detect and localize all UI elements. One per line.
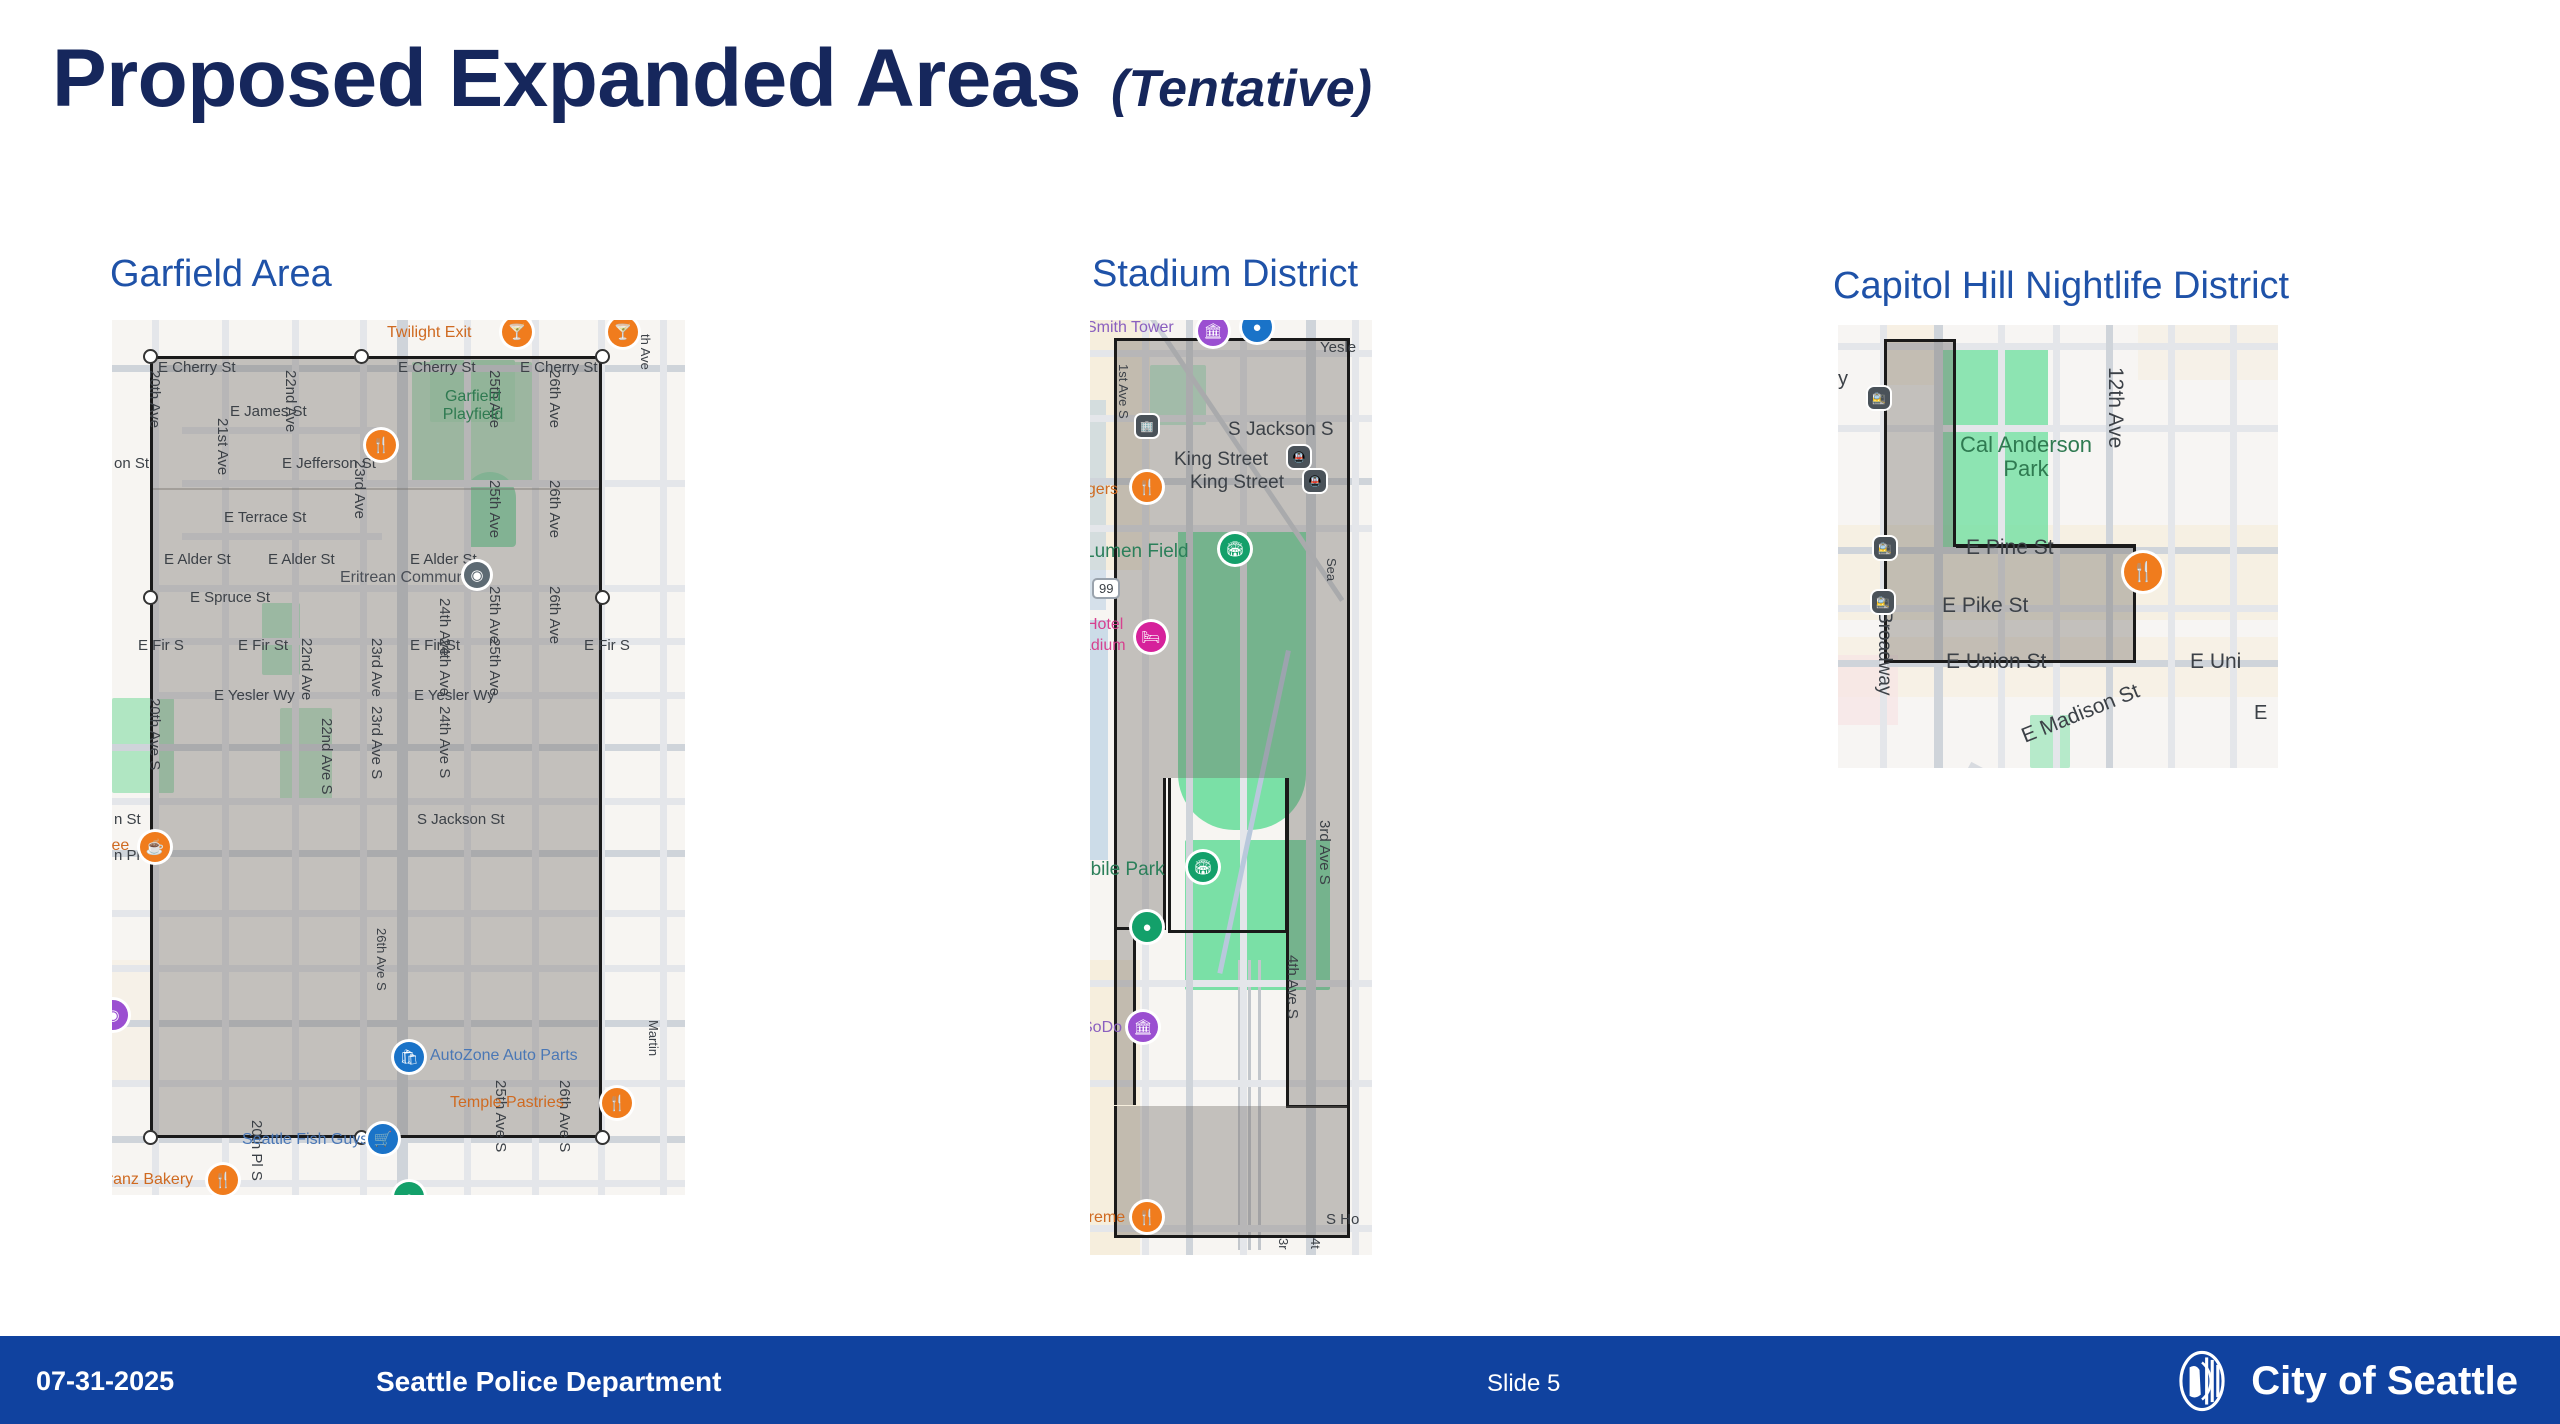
restaurant-icon[interactable]: 🍴 (602, 1088, 632, 1118)
street-label: E Terrace St (224, 510, 306, 525)
street-label: Yesle (1320, 340, 1356, 355)
title-main-text: Proposed Expanded Areas (52, 38, 1081, 120)
poi-label-kreme[interactable]: Kreme (1090, 1210, 1125, 1226)
park-label-cal-anderson: Cal Anderson Park (1946, 433, 2106, 481)
street-label: 20th Ave (147, 370, 162, 428)
stadium-cutout-outline (1168, 778, 1288, 933)
poi-label-smith-tower[interactable]: Smith Tower (1090, 320, 1174, 336)
landmark-icon[interactable]: 🏛 (1128, 1012, 1158, 1042)
store-icon[interactable]: 🛒 (368, 1124, 398, 1154)
street-label: E Alder St (410, 552, 477, 567)
street-label: 23rd Ave (352, 460, 367, 519)
street-label: 24th Ave S (437, 706, 452, 778)
street-label: 26th Ave S (375, 928, 388, 991)
polygon-vertex[interactable] (143, 349, 158, 364)
selection-polygon-stadium-left-strip (1114, 778, 1166, 930)
transit-icon[interactable]: 🚉 (1868, 387, 1890, 409)
city-of-seattle-brand: City of Seattle (2171, 1350, 2518, 1412)
footer-department: Seattle Police Department (376, 1368, 721, 1396)
poi-label-hotel[interactable]: Hotel (1090, 617, 1123, 633)
poi-label-temple-pastries[interactable]: Temple Pastries (450, 1095, 564, 1111)
street-label: 1st Ave S (1117, 364, 1130, 419)
street-label: E Uni (2190, 651, 2241, 672)
place-icon[interactable]: ◉ (464, 562, 490, 588)
slide-footer: 07-31-2025 Seattle Police Department Sli… (0, 1336, 2560, 1424)
street-label: 12th Ave (2105, 367, 2126, 448)
street-label: E Cherry St (158, 360, 236, 375)
park-label-garfield-playfield: Garfield Playfield (430, 388, 516, 425)
street-label: Sea (1325, 558, 1338, 581)
poi-label-autozone[interactable]: AutoZone Auto Parts (430, 1048, 578, 1064)
section-heading-stadium: Stadium District (1092, 255, 1358, 293)
map-stadium-district[interactable]: Smith Tower 🏛 ● Yesle 1st Ave S 2nd Ave … (1090, 320, 1372, 1255)
restaurant-icon[interactable]: 🍴 (1132, 472, 1162, 502)
street-label: E Alder St (268, 552, 335, 567)
poi-label-franz-bakery[interactable]: Franz Bakery (112, 1172, 193, 1188)
street-label: 4t (1309, 1238, 1322, 1249)
street-label: E Fir St (238, 638, 288, 653)
poi-label-ggers[interactable]: ggers (1090, 482, 1118, 498)
street-label: n St (114, 812, 141, 827)
street-label: E Spruce St (190, 590, 270, 605)
restaurant-icon[interactable]: 🍴 (1132, 1202, 1162, 1232)
street-label: 3rd Ave S (1317, 820, 1332, 885)
polygon-vertex[interactable] (595, 1130, 610, 1145)
street-label: 22nd Ave S (319, 718, 334, 794)
street-label: E Yesler Wy (414, 688, 495, 703)
street-label: S Jackson St (417, 812, 505, 827)
footer-date: 07-31-2025 (36, 1368, 174, 1395)
street-label: Broadway (1875, 611, 1894, 696)
polygon-vertex[interactable] (143, 1130, 158, 1145)
stadium-icon[interactable]: 🏟 (1188, 852, 1218, 882)
section-heading-garfield: Garfield Area (110, 255, 332, 293)
poi-label-tmobile-park[interactable]: obile Park (1090, 860, 1165, 879)
street-label: 22nd Ave (299, 638, 314, 700)
transit-icon[interactable]: 🚉 (1874, 537, 1896, 559)
poi-label-sodo[interactable]: SoDo (1090, 1020, 1122, 1036)
polygon-vertex[interactable] (354, 349, 369, 364)
poi-label-twilight-exit[interactable]: Twilight Exit (387, 325, 471, 341)
poi-label-king-street-1[interactable]: King Street (1174, 450, 1268, 469)
poi-label-lumen-field[interactable]: Lumen Field (1090, 542, 1189, 561)
street-label: 25th Ave (487, 480, 502, 538)
polygon-vertex[interactable] (595, 590, 610, 605)
slide-canvas: Proposed Expanded Areas (Tentative) Garf… (0, 0, 2560, 1424)
street-label: E Fir S (584, 638, 630, 653)
street-label: 26th Ave (547, 370, 562, 428)
street-label: 3r (1277, 1238, 1290, 1250)
street-label: E Alder St (164, 552, 231, 567)
polygon-vertex[interactable] (143, 590, 158, 605)
train-icon[interactable]: 🚇 (1288, 446, 1310, 468)
restaurant-icon[interactable]: 🍴 (366, 430, 396, 460)
street-label: 21st Ave (215, 418, 230, 475)
poi-label-king-street-2[interactable]: King Street (1190, 473, 1284, 492)
street-label: E Fir S (138, 638, 184, 653)
city-seal-icon (2171, 1350, 2233, 1412)
street-label: on St (114, 456, 149, 471)
street-label: E Union St (1946, 651, 2046, 672)
restaurant-icon[interactable]: 🍴 (2124, 553, 2162, 591)
landmark-icon[interactable]: 🏢 (1136, 415, 1158, 437)
train-icon[interactable]: 🚇 (1304, 470, 1326, 492)
street-label: 25th Ave (487, 586, 502, 644)
poi-label-eritrean-community[interactable]: Eritrean Community (340, 570, 481, 586)
footer-slide-number: Slide 5 (1487, 1372, 1560, 1396)
street-label: S Ho (1326, 1212, 1359, 1227)
street-label: 20th Ave S (147, 698, 162, 770)
poi-label-coffee[interactable]: offee (112, 838, 129, 854)
street-label: E Pine St (1966, 537, 2054, 558)
map-capitol-hill[interactable]: Cal Anderson Park 12th Ave E Pine St E P… (1838, 325, 2278, 768)
street-label: 26th Ave (547, 480, 562, 538)
street-label: E Pike St (1942, 595, 2028, 616)
route-shield-99: 99 (1092, 578, 1120, 599)
shop-icon[interactable]: 🛍 (394, 1042, 424, 1072)
street-label: 24th Ave (437, 638, 452, 696)
street-label: E (2254, 703, 2267, 723)
street-label: 26th Ave S (557, 1080, 572, 1152)
street-label: E Cherry St (398, 360, 476, 375)
hotel-icon[interactable]: 🛏 (1136, 622, 1166, 652)
street-label: 25th Ave (487, 638, 502, 696)
poi-label-seattle-fish-guys[interactable]: Seattle Fish Guys (242, 1132, 368, 1148)
cafe-icon[interactable]: ☕ (140, 832, 170, 862)
street-label: 23rd Ave S (369, 706, 384, 779)
restaurant-icon[interactable]: 🍴 (208, 1165, 238, 1195)
street-label: 20th Pl S (249, 1120, 264, 1181)
street-label: 25th Ave S (493, 1080, 508, 1152)
brand-label: City of Seattle (2251, 1361, 2518, 1401)
poi-label-stadium[interactable]: adium (1090, 638, 1126, 654)
stadium-icon[interactable]: 🏟 (1220, 534, 1250, 564)
transit-icon[interactable]: 🚉 (1872, 591, 1894, 613)
street-label: y (1838, 369, 1848, 389)
section-heading-capitol: Capitol Hill Nightlife District (1833, 267, 2289, 305)
street-label: 4th Ave S (1285, 955, 1300, 1019)
street-label: Martin (647, 1020, 660, 1056)
place-icon[interactable]: ● (1132, 912, 1162, 942)
street-label: 26th Ave (547, 586, 562, 644)
page-title: Proposed Expanded Areas (Tentative) (52, 38, 1372, 120)
street-label: 22nd Ave (283, 370, 298, 432)
street-label: 23rd Ave (369, 638, 384, 697)
map-garfield-area[interactable]: E Cherry St E Cherry St E Cherry St E Ja… (112, 320, 685, 1195)
street-label: S Jackson S (1228, 420, 1334, 439)
street-label: th Ave (639, 334, 652, 370)
street-label: E Yesler Wy (214, 688, 295, 703)
title-tentative-text: (Tentative) (1111, 63, 1372, 115)
